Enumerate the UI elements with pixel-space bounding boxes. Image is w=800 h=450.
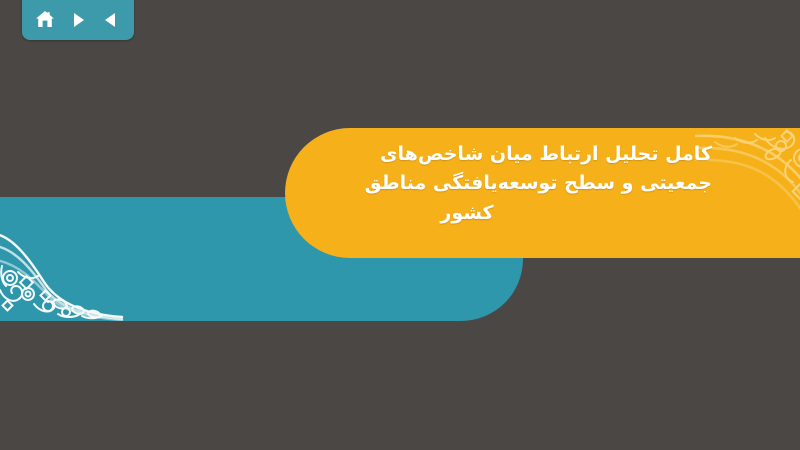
home-button[interactable]	[32, 7, 58, 33]
slide-title-line-2: جمعیتی و سطح توسعه‌یافتگی مناطق	[292, 169, 712, 198]
triangle-left-icon	[101, 10, 121, 30]
slide-navigation-bar	[22, 0, 134, 40]
slide-title-line-3: کشور	[292, 199, 712, 228]
slide-title-line-1: کامل تحلیل ارتباط میان شاخص‌های	[292, 140, 712, 169]
next-slide-button[interactable]	[65, 7, 91, 33]
triangle-right-icon	[68, 10, 88, 30]
presentation-slide: کامل تحلیل ارتباط میان شاخص‌های جمعیتی و…	[0, 0, 800, 450]
previous-slide-button[interactable]	[98, 7, 124, 33]
slide-title: کامل تحلیل ارتباط میان شاخص‌های جمعیتی و…	[292, 140, 712, 228]
islamic-arabesque-ornament-left	[0, 216, 124, 321]
home-icon	[34, 9, 56, 31]
